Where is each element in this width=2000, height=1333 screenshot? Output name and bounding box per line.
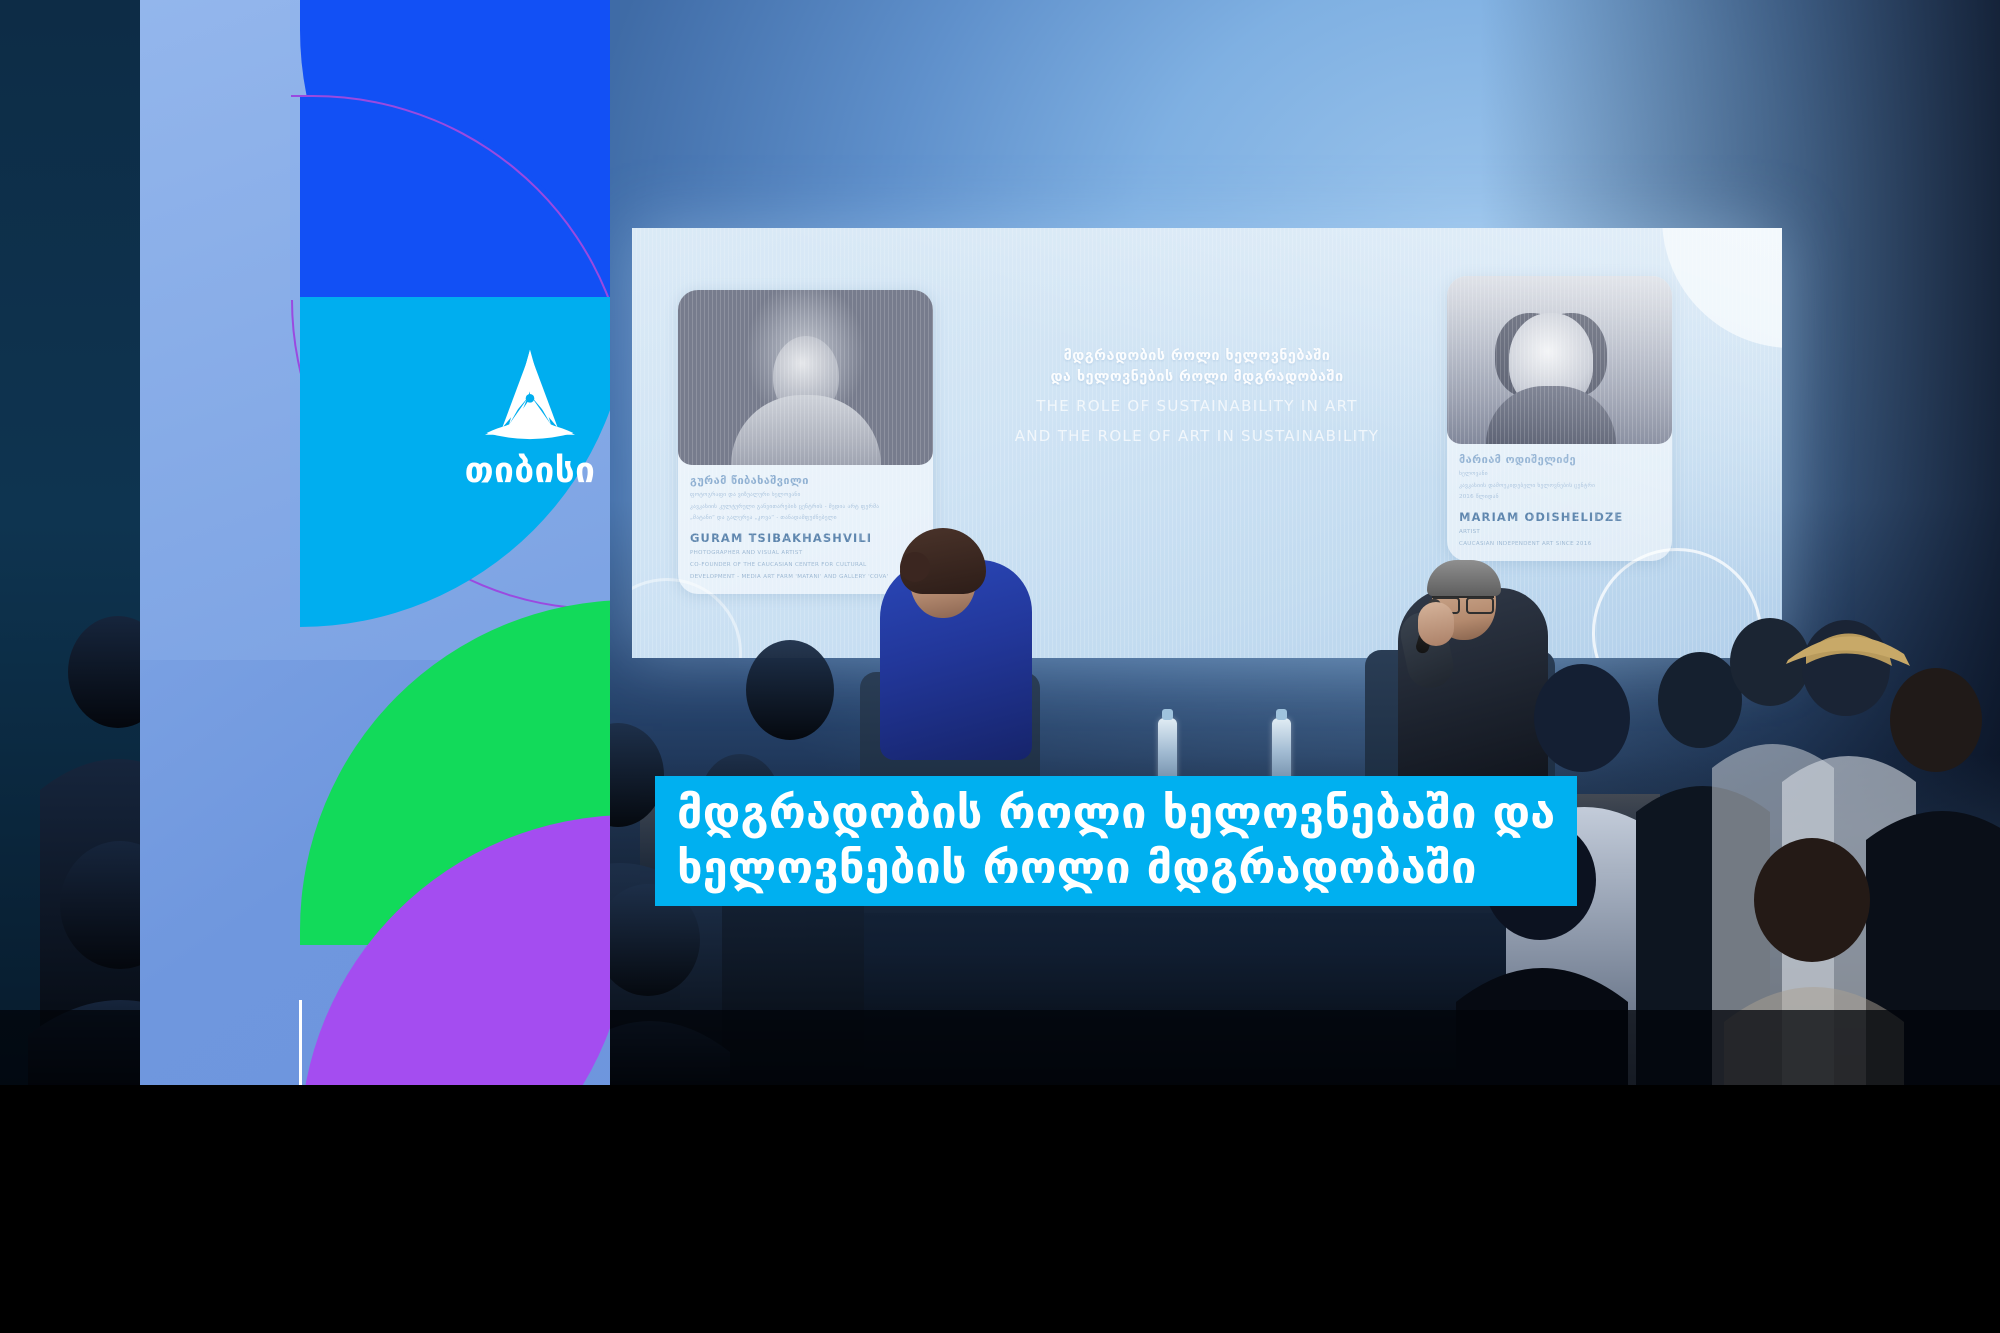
tbc-logo-lockup: თიბისი xyxy=(430,348,610,489)
screenshot-canvas: გურამ წიბახაშვილი ფოტოგრაფი და ვიზუალური… xyxy=(0,0,2000,1333)
caption-line-2: ხელოვნების როლი მდგრადობაში xyxy=(655,839,1577,906)
bottom-letterbox xyxy=(0,1085,2000,1333)
bottom-left-black-block xyxy=(0,1085,140,1333)
caption-line-1: მდგრადობის როლი ხელოვნებაში და xyxy=(655,776,1577,839)
tbc-triangle-logo-icon xyxy=(478,348,582,440)
caption-banner: მდგრადობის როლი ხელოვნებაში და ხელოვნები… xyxy=(655,776,1577,906)
tbc-wordmark: თიბისი xyxy=(430,454,610,489)
